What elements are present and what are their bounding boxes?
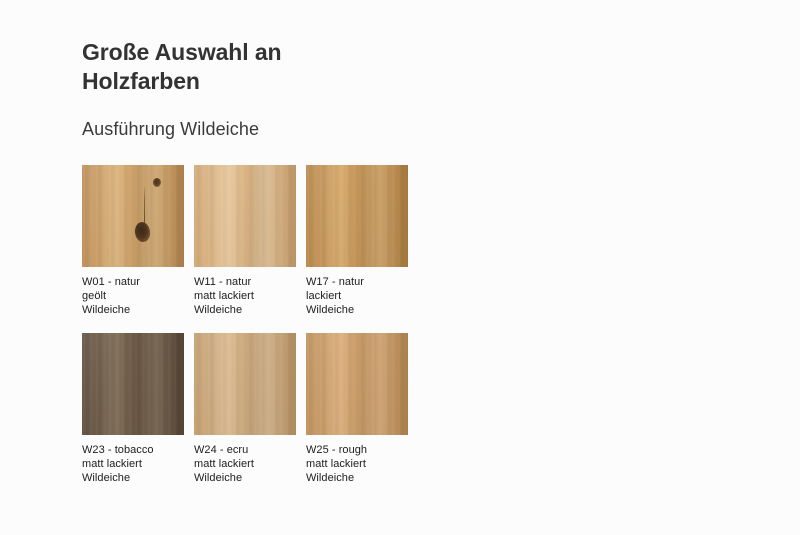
swatch-label-line3: Wildeiche — [194, 303, 296, 317]
swatch-label-w25: W25 - rough matt lackiert Wildeiche — [306, 443, 408, 485]
swatch-label-line3: Wildeiche — [194, 471, 296, 485]
swatch-label-w17: W17 - natur lackiert Wildeiche — [306, 275, 408, 317]
swatch-row: W23 - tobacco matt lackiert Wildeiche W2… — [82, 333, 410, 485]
swatch-label-line1: W25 - rough — [306, 443, 408, 457]
swatch-chip-w01[interactable] — [82, 165, 184, 267]
swatch-label-line2: matt lackiert — [306, 457, 408, 471]
swatch-chip-w23[interactable] — [82, 333, 184, 435]
page-title: Große Auswahl an Holzfarben — [82, 38, 382, 96]
swatch-label-line2: matt lackiert — [194, 457, 296, 471]
swatch-label-line1: W24 - ecru — [194, 443, 296, 457]
swatch-label-w11: W11 - natur matt lackiert Wildeiche — [194, 275, 296, 317]
swatch-label-line1: W23 - tobacco — [82, 443, 184, 457]
swatch-item-w23[interactable]: W23 - tobacco matt lackiert Wildeiche — [82, 333, 184, 485]
swatch-chip-w24[interactable] — [194, 333, 296, 435]
gloss-sheen-overlay — [306, 165, 408, 267]
swatch-label-line3: Wildeiche — [82, 303, 184, 317]
swatch-label-line3: Wildeiche — [306, 303, 408, 317]
swatch-item-w25[interactable]: W25 - rough matt lackiert Wildeiche — [306, 333, 408, 485]
page-subtitle: Ausführung Wildeiche — [82, 118, 800, 140]
gloss-sheen-overlay — [194, 333, 296, 435]
wood-color-selection-page: Große Auswahl an Holzfarben Ausführung W… — [0, 0, 800, 535]
swatch-item-w11[interactable]: W11 - natur matt lackiert Wildeiche — [194, 165, 296, 317]
swatch-chip-w25[interactable] — [306, 333, 408, 435]
swatch-chip-w17[interactable] — [306, 165, 408, 267]
swatch-label-line2: matt lackiert — [82, 457, 184, 471]
wood-swatch-grid: W01 - natur geölt Wildeiche W11 - natur … — [82, 165, 410, 485]
gloss-sheen-overlay — [82, 165, 184, 267]
swatch-item-w01[interactable]: W01 - natur geölt Wildeiche — [82, 165, 184, 317]
swatch-row: W01 - natur geölt Wildeiche W11 - natur … — [82, 165, 410, 317]
swatch-item-w17[interactable]: W17 - natur lackiert Wildeiche — [306, 165, 408, 317]
swatch-item-w24[interactable]: W24 - ecru matt lackiert Wildeiche — [194, 333, 296, 485]
swatch-label-line2: geölt — [82, 289, 184, 303]
swatch-label-line1: W01 - natur — [82, 275, 184, 289]
gloss-sheen-overlay — [82, 333, 184, 435]
swatch-label-line2: lackiert — [306, 289, 408, 303]
gloss-sheen-overlay — [306, 333, 408, 435]
swatch-label-w24: W24 - ecru matt lackiert Wildeiche — [194, 443, 296, 485]
swatch-label-w23: W23 - tobacco matt lackiert Wildeiche — [82, 443, 184, 485]
gloss-sheen-overlay — [194, 165, 296, 267]
swatch-label-w01: W01 - natur geölt Wildeiche — [82, 275, 184, 317]
swatch-label-line1: W17 - natur — [306, 275, 408, 289]
swatch-label-line2: matt lackiert — [194, 289, 296, 303]
swatch-label-line3: Wildeiche — [306, 471, 408, 485]
swatch-label-line1: W11 - natur — [194, 275, 296, 289]
swatch-chip-w11[interactable] — [194, 165, 296, 267]
swatch-label-line3: Wildeiche — [82, 471, 184, 485]
